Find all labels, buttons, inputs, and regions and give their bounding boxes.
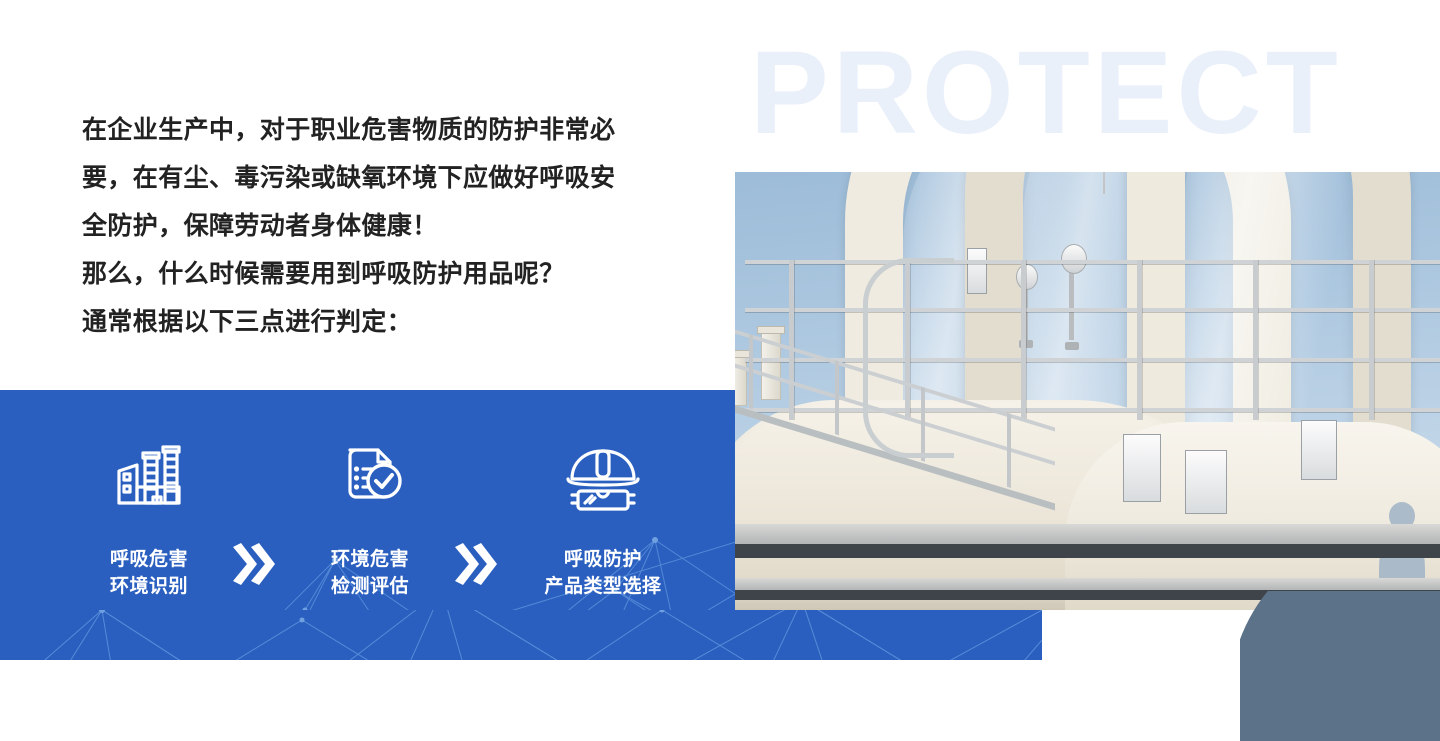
hero-photo [735, 172, 1440, 610]
page-root: PROTECT [0, 0, 1440, 741]
sensor-box-4 [1301, 420, 1337, 480]
gauge-stem-2 [1069, 268, 1074, 340]
step-1-label-line2: 环境识别 [74, 573, 224, 600]
copy-line-4: 那么，什么时候需要用到呼吸防护用品呢？ [82, 250, 682, 298]
intro-paragraph: 在企业生产中，对于职业危害物质的防护非常必 要，在有尘、毒污染或缺氧环境下应做好… [82, 106, 682, 346]
slate-corner-shape [1240, 591, 1440, 741]
copy-line-5: 通常根据以下三点进行判定： [82, 298, 682, 346]
slate-corner-decoration [1240, 591, 1440, 741]
steps-row: 呼吸危害 环境识别 [0, 390, 735, 660]
step-1-label-line1: 呼吸危害 [74, 546, 224, 573]
step-3-label-line2: 产品类型选择 [510, 573, 696, 600]
stair-post [1007, 413, 1011, 488]
pipe-illustration [735, 172, 1440, 610]
railing-post [1369, 260, 1374, 420]
stair-post [749, 334, 753, 409]
helmet-goggles-icon [510, 436, 696, 522]
copy-line-3: 全防护，保障劳动者身体健康！ [82, 202, 682, 250]
hero-photo-upper-gap [735, 0, 1440, 172]
step-3-label-line1: 呼吸防护 [510, 546, 696, 573]
railing-post [1253, 260, 1258, 420]
sensor-box-2 [1123, 434, 1161, 502]
step-item-3[interactable]: 呼吸防护 产品类型选择 [510, 436, 696, 600]
railing-mid-rail [745, 308, 1440, 312]
copy-line-2: 要，在有尘、毒污染或缺氧环境下应做好呼吸安 [82, 154, 682, 202]
valve-2 [1065, 342, 1079, 350]
sensor-box-1 [967, 248, 987, 294]
factory-icon [74, 436, 224, 522]
railing-top-rail [745, 260, 1440, 264]
tube-loop [863, 258, 954, 458]
double-chevron-right-icon-2 [450, 540, 502, 588]
step-2-label: 环境危害 检测评估 [295, 546, 445, 600]
copy-line-1: 在企业生产中，对于职业危害物质的防护非常必 [82, 106, 682, 154]
railing-post [1021, 260, 1026, 420]
document-check-icon [295, 436, 445, 522]
step-item-2[interactable]: 环境危害 检测评估 [295, 436, 445, 600]
railing-post [1137, 260, 1142, 420]
gauge-dial-1 [1016, 264, 1038, 290]
sensor-box-3 [1185, 450, 1227, 514]
step-2-label-line2: 检测评估 [295, 573, 445, 600]
step-item-1[interactable]: 呼吸危害 环境识别 [74, 436, 224, 600]
stair-post [835, 360, 839, 435]
step-2-label-line1: 环境危害 [295, 546, 445, 573]
double-chevron-right-icon-1 [228, 540, 280, 588]
step-1-label: 呼吸危害 环境识别 [74, 546, 224, 600]
step-3-label: 呼吸防护 产品类型选择 [510, 546, 696, 600]
steps-banner: 呼吸危害 环境识别 [0, 390, 735, 660]
gauge-dial-2 [1061, 244, 1087, 274]
